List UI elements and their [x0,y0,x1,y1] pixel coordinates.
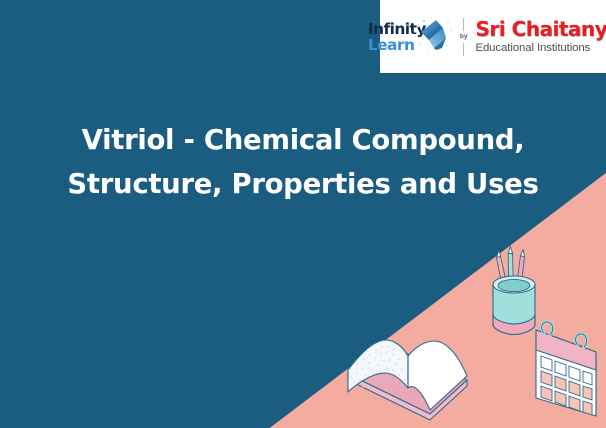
desk-calendar-icon [536,322,596,416]
infinity-learn-logo: Infinity Learn [368,14,454,60]
desk-illustration [330,230,606,428]
sri-chaitanya-logo: Sri Chaitanya Educational Institutions [475,18,606,55]
pencil-cup-icon [493,247,535,335]
page-title-line-1: Vitriol - Chemical Compound, [24,118,582,162]
logo-divider: by [460,15,468,59]
divider-line-bottom [463,43,464,56]
by-label: by [460,33,468,41]
divider-line-top [463,18,464,31]
open-book-icon [348,340,467,420]
sri-chaitanya-name: Sri Chaitanya [475,18,606,40]
infinity-arrow-icon [412,16,454,56]
slide-canvas: Infinity Learn [0,0,606,428]
page-title-line-2: Structure, Properties and Uses [24,162,582,206]
sri-chaitanya-tagline: Educational Institutions [475,41,590,55]
infinity-learn-word-bottom: Learn [368,37,415,53]
page-title: Vitriol - Chemical Compound, Structure, … [0,118,606,206]
brand-logo-card: Infinity Learn [380,0,606,73]
